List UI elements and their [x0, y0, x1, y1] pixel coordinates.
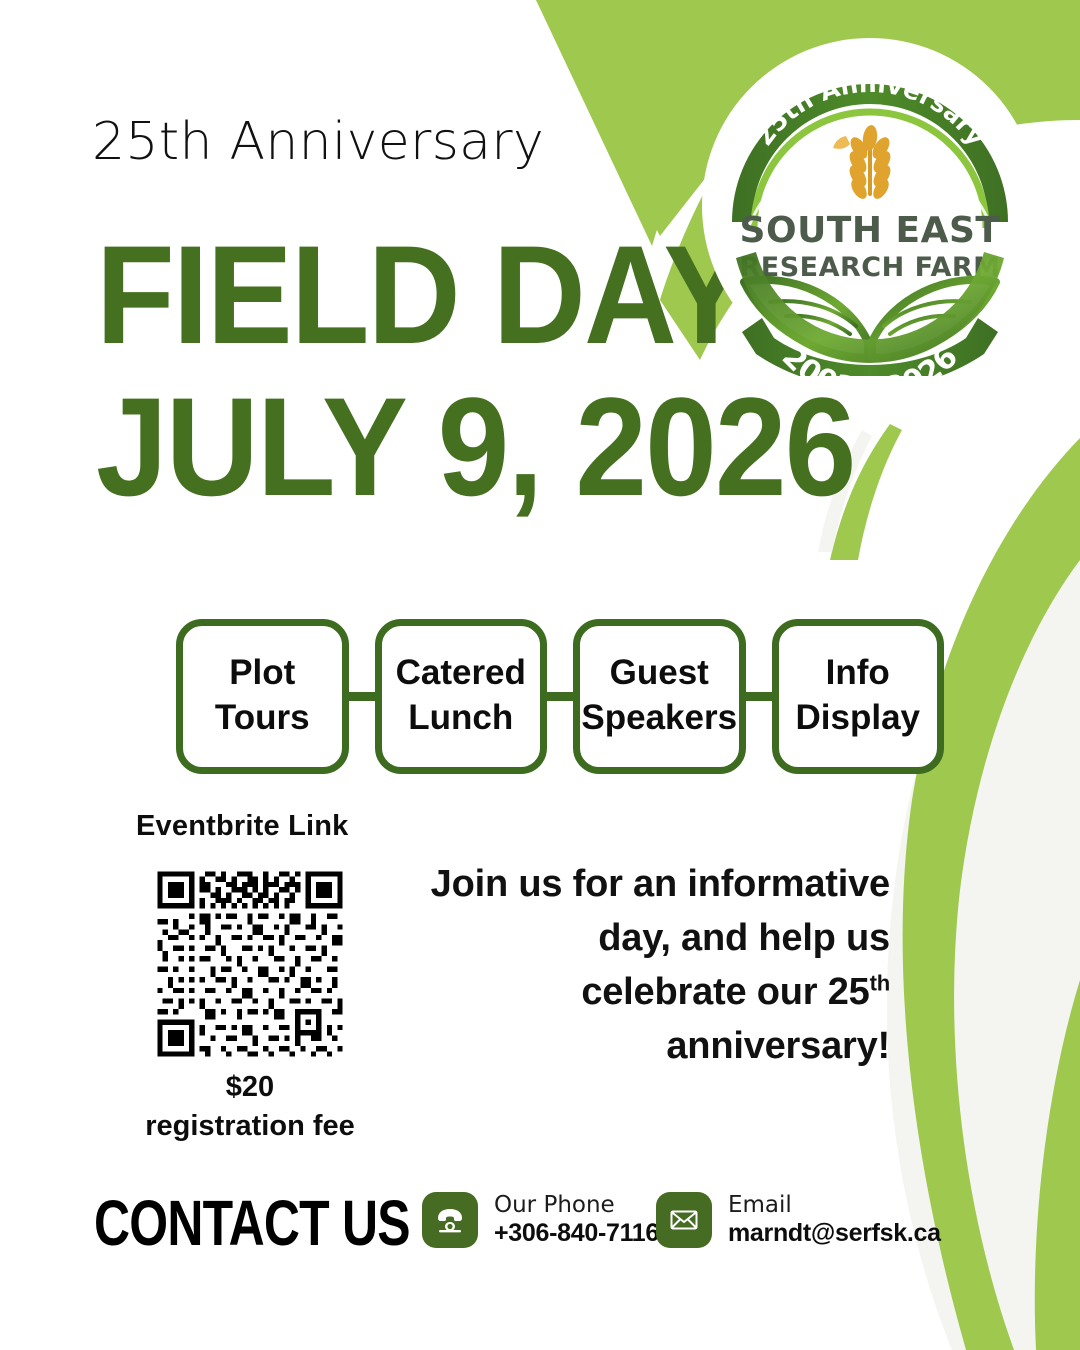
feature-list: Plot Tours Catered Lunch Guest Speakers …: [176, 616, 944, 776]
feature-box-catered-lunch[interactable]: Catered Lunch: [375, 619, 548, 774]
contact-phone[interactable]: Our Phone +306-840-7116: [422, 1192, 659, 1248]
feature-line-1: Info: [826, 651, 890, 696]
headline-line-2: JULY 9, 2026: [96, 380, 855, 514]
feature-line-2: Lunch: [408, 696, 513, 741]
kicker-text: 25th Anniversary: [92, 112, 544, 172]
registration-fee: $20 registration fee: [110, 1068, 390, 1146]
logo-name-line-1: SOUTH EAST: [740, 210, 1001, 251]
right-green-swoosh-cut: [954, 560, 1080, 1350]
feature-box-info-display[interactable]: Info Display: [772, 619, 945, 774]
invite-ordinal-suffix: th: [870, 970, 890, 995]
feature-line-1: Plot: [229, 651, 295, 696]
email-value: marndt@serfsk.ca: [728, 1219, 941, 1247]
contact-heading: CONTACT US: [94, 1186, 410, 1260]
feature-connector: [746, 692, 772, 701]
invite-line-4: anniversary!: [666, 1025, 890, 1067]
feature-connector: [349, 692, 375, 701]
invite-line-3: celebrate our 25: [581, 971, 869, 1013]
eventbrite-link-label: Eventbrite Link: [136, 810, 349, 843]
south-east-research-farm-logo: 25th Anniversary SOUTH EAST RESEARCH FAR…: [700, 36, 1040, 376]
feature-line-2: Tours: [215, 696, 310, 741]
feature-box-guest-speakers[interactable]: Guest Speakers: [573, 619, 746, 774]
envelope-icon: [656, 1192, 712, 1248]
invite-paragraph: Join us for an informative day, and help…: [390, 858, 890, 1074]
qr-code-image: [152, 866, 348, 1062]
invite-line-2: day, and help us: [598, 917, 890, 959]
contact-email[interactable]: Email marndt@serfsk.ca: [656, 1192, 941, 1248]
feature-line-1: Guest: [610, 651, 709, 696]
poster-canvas: 25th Anniversary FIELD DAY JULY 9, 2026: [0, 0, 1080, 1350]
phone-value: +306-840-7116: [494, 1219, 659, 1247]
eventbrite-qr-code[interactable]: [152, 866, 348, 1062]
feature-box-plot-tours[interactable]: Plot Tours: [176, 619, 349, 774]
feature-line-2: Display: [796, 696, 921, 741]
bottom-right-green-edge: [1035, 980, 1080, 1350]
fee-label: registration fee: [110, 1107, 390, 1146]
feature-line-1: Catered: [396, 651, 526, 696]
feature-line-2: Speakers: [581, 696, 737, 741]
invite-line-1: Join us for an informative: [431, 863, 890, 905]
phone-label: Our Phone: [494, 1193, 659, 1219]
feature-connector: [547, 692, 573, 701]
fee-amount: $20: [110, 1068, 390, 1107]
telephone-icon: [422, 1192, 478, 1248]
email-label: Email: [728, 1193, 941, 1219]
